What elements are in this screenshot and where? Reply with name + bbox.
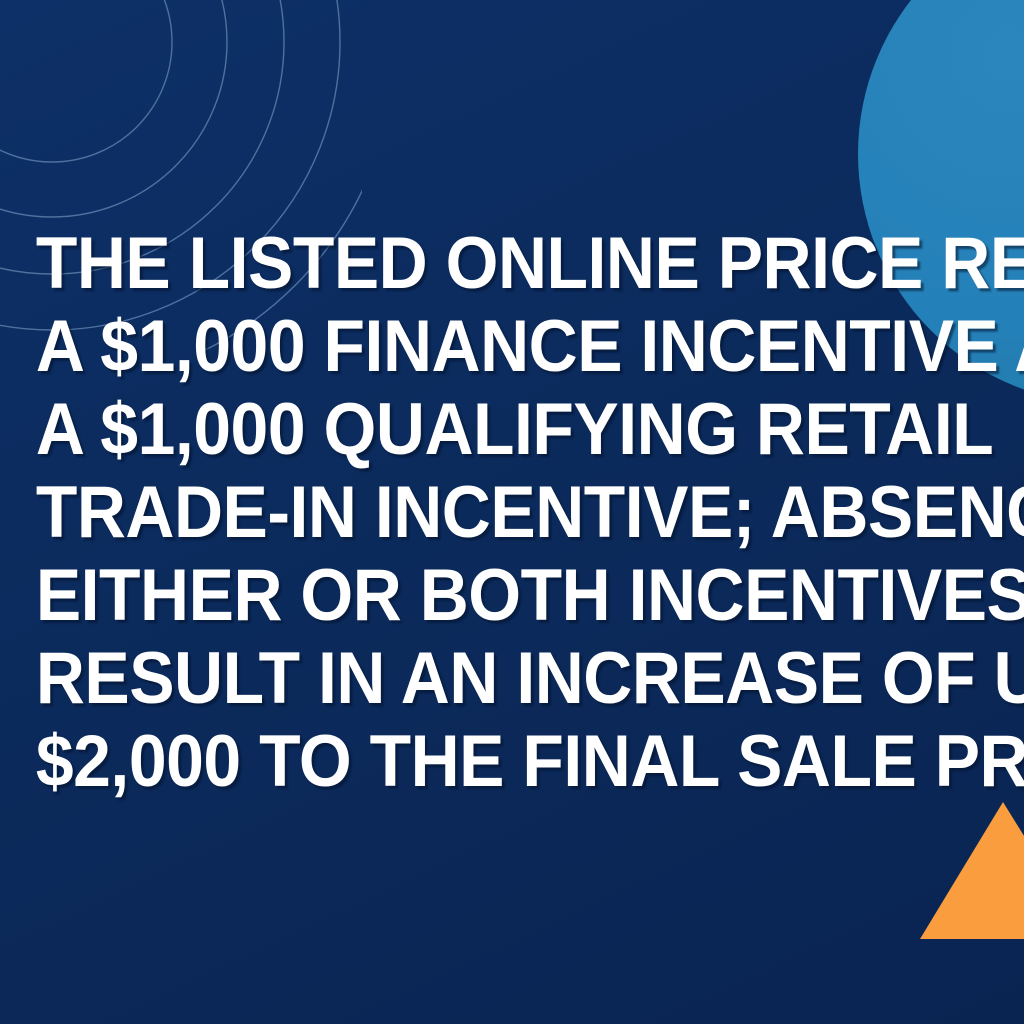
headline-line-1: THE LISTED ONLINE PRICE REFLECTS [36, 222, 988, 305]
page-title: THE LISTED ONLINE PRICE REFLECTS A $1,00… [36, 222, 988, 803]
headline-line-5: EITHER OR BOTH INCENTIVES WILL [36, 554, 988, 637]
orange-triangle-icon [920, 802, 1024, 939]
headline-line-3: A $1,000 QUALIFYING RETAIL [36, 388, 988, 471]
headline-line-2: A $1,000 FINANCE INCENTIVE AND [36, 305, 988, 388]
headline-line-4: TRADE-IN INCENTIVE; ABSENCE OF [36, 471, 988, 554]
headline-line-7: $2,000 TO THE FINAL SALE PRICE. [36, 720, 988, 803]
headline-line-6: RESULT IN AN INCREASE OF UP TO [36, 637, 988, 720]
disclaimer-graphic: THE LISTED ONLINE PRICE REFLECTS A $1,00… [0, 0, 1024, 1024]
